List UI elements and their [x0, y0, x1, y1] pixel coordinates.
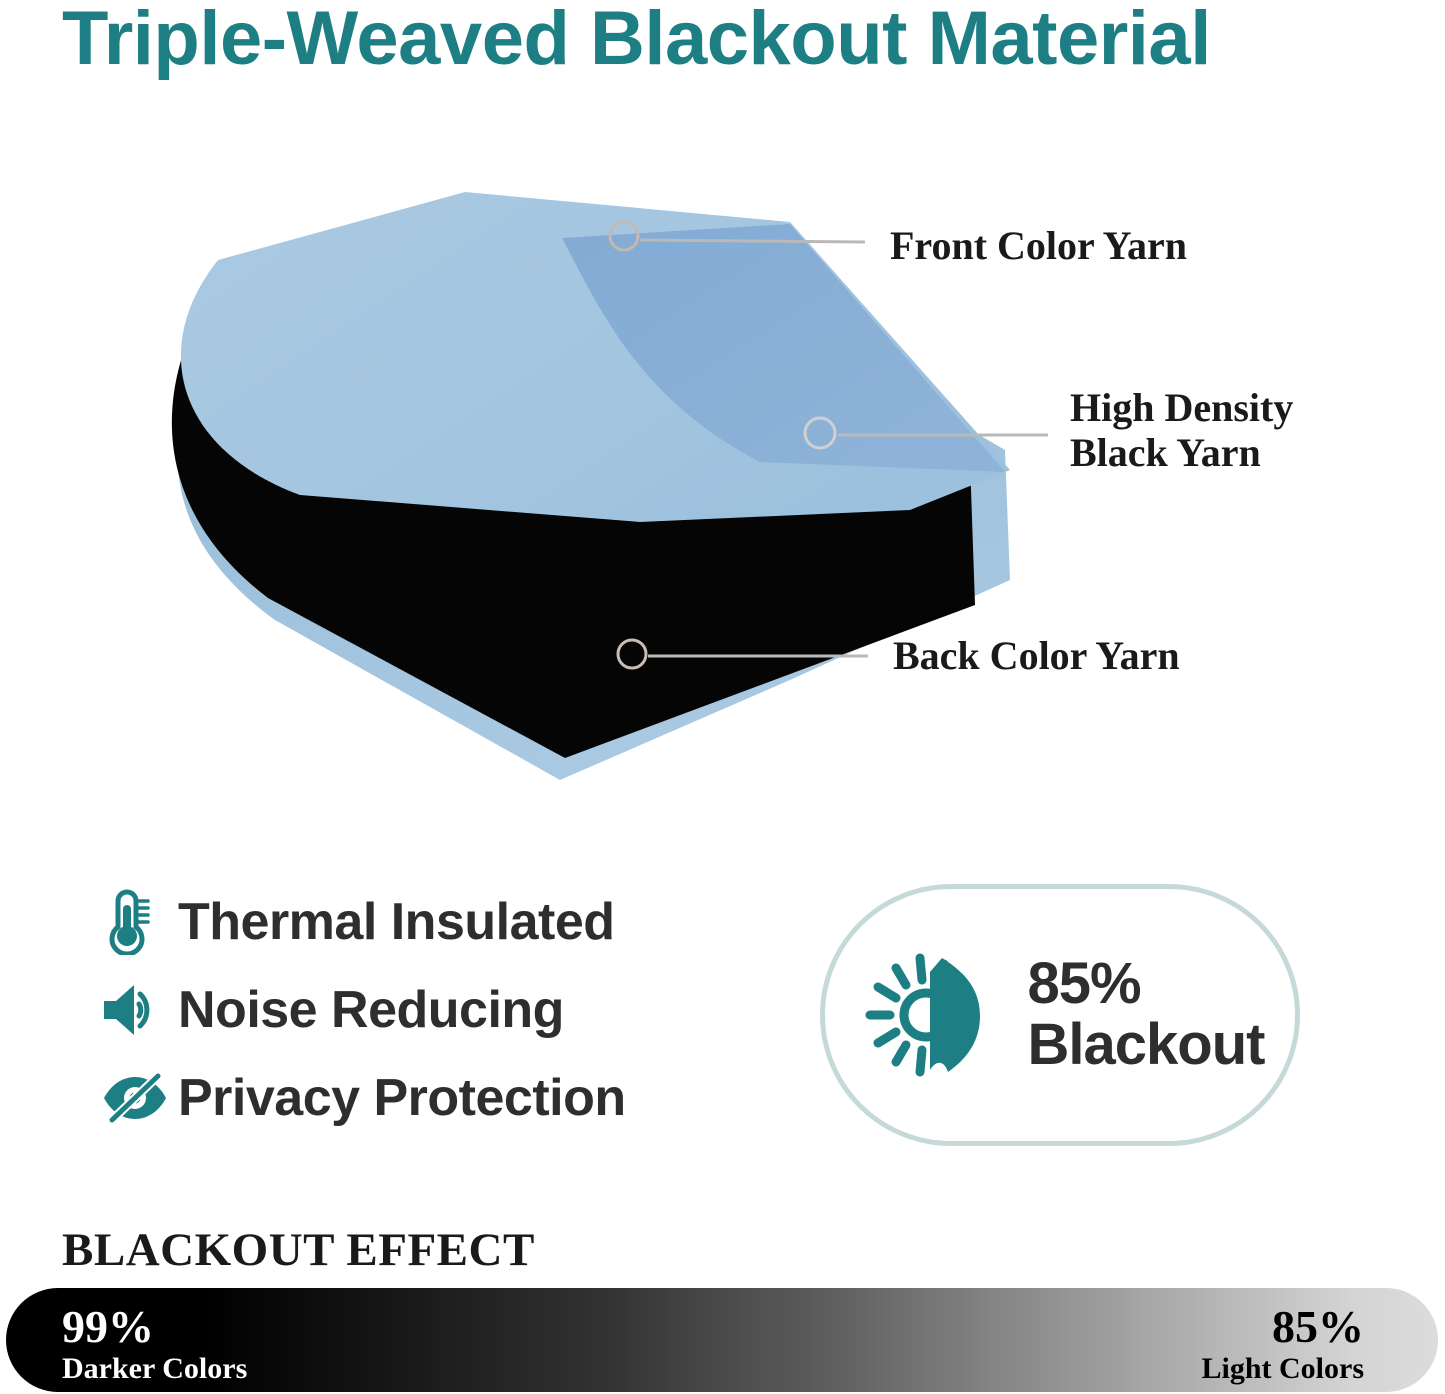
blackout-effect-heading: BLACKOUT EFFECT — [62, 1223, 535, 1277]
blackout-percentage-badge: 85% Blackout — [820, 884, 1300, 1146]
badge-percent: 85% — [1028, 954, 1265, 1015]
blackout-effect-gradient-bar: 99% Darker Colors 85% Light Colors — [6, 1288, 1438, 1392]
thermometer-icon — [100, 889, 178, 955]
badge-text: 85% Blackout — [1028, 954, 1265, 1076]
feature-item-noise-reducing: Noise Reducing — [100, 966, 740, 1054]
speaker-sound-icon — [100, 977, 178, 1043]
label-high-density-black-yarn: High Density Black Yarn — [1070, 386, 1293, 476]
gradient-left-percent: 99% — [62, 1302, 247, 1352]
feature-label-thermal-insulated: Thermal Insulated — [178, 892, 615, 952]
gradient-right-label: Light Colors — [1201, 1352, 1364, 1385]
badge-word: Blackout — [1028, 1015, 1265, 1076]
label-high-density-line1: High Density — [1070, 386, 1293, 431]
label-front-color-yarn: Front Color Yarn — [890, 224, 1187, 269]
gradient-bar-right-stat: 85% Light Colors — [1201, 1302, 1364, 1385]
label-back-color-yarn: Back Color Yarn — [893, 634, 1180, 679]
sun-blocked-icon — [856, 940, 1006, 1090]
infographic-page: Triple-Weaved Blackout Material — [0, 0, 1445, 1394]
gradient-bar-left-stat: 99% Darker Colors — [62, 1302, 247, 1385]
feature-label-noise-reducing: Noise Reducing — [178, 980, 564, 1040]
gradient-right-percent: 85% — [1201, 1302, 1364, 1352]
page-title: Triple-Weaved Blackout Material — [62, 0, 1402, 82]
feature-list: Thermal Insulated Noise Reducing — [100, 878, 740, 1142]
feature-item-privacy-protection: Privacy Protection — [100, 1054, 740, 1142]
eye-slash-icon — [100, 1065, 178, 1131]
gradient-left-label: Darker Colors — [62, 1352, 247, 1385]
label-high-density-line2: Black Yarn — [1070, 431, 1293, 476]
feature-item-thermal-insulated: Thermal Insulated — [100, 878, 740, 966]
feature-label-privacy-protection: Privacy Protection — [178, 1068, 626, 1128]
